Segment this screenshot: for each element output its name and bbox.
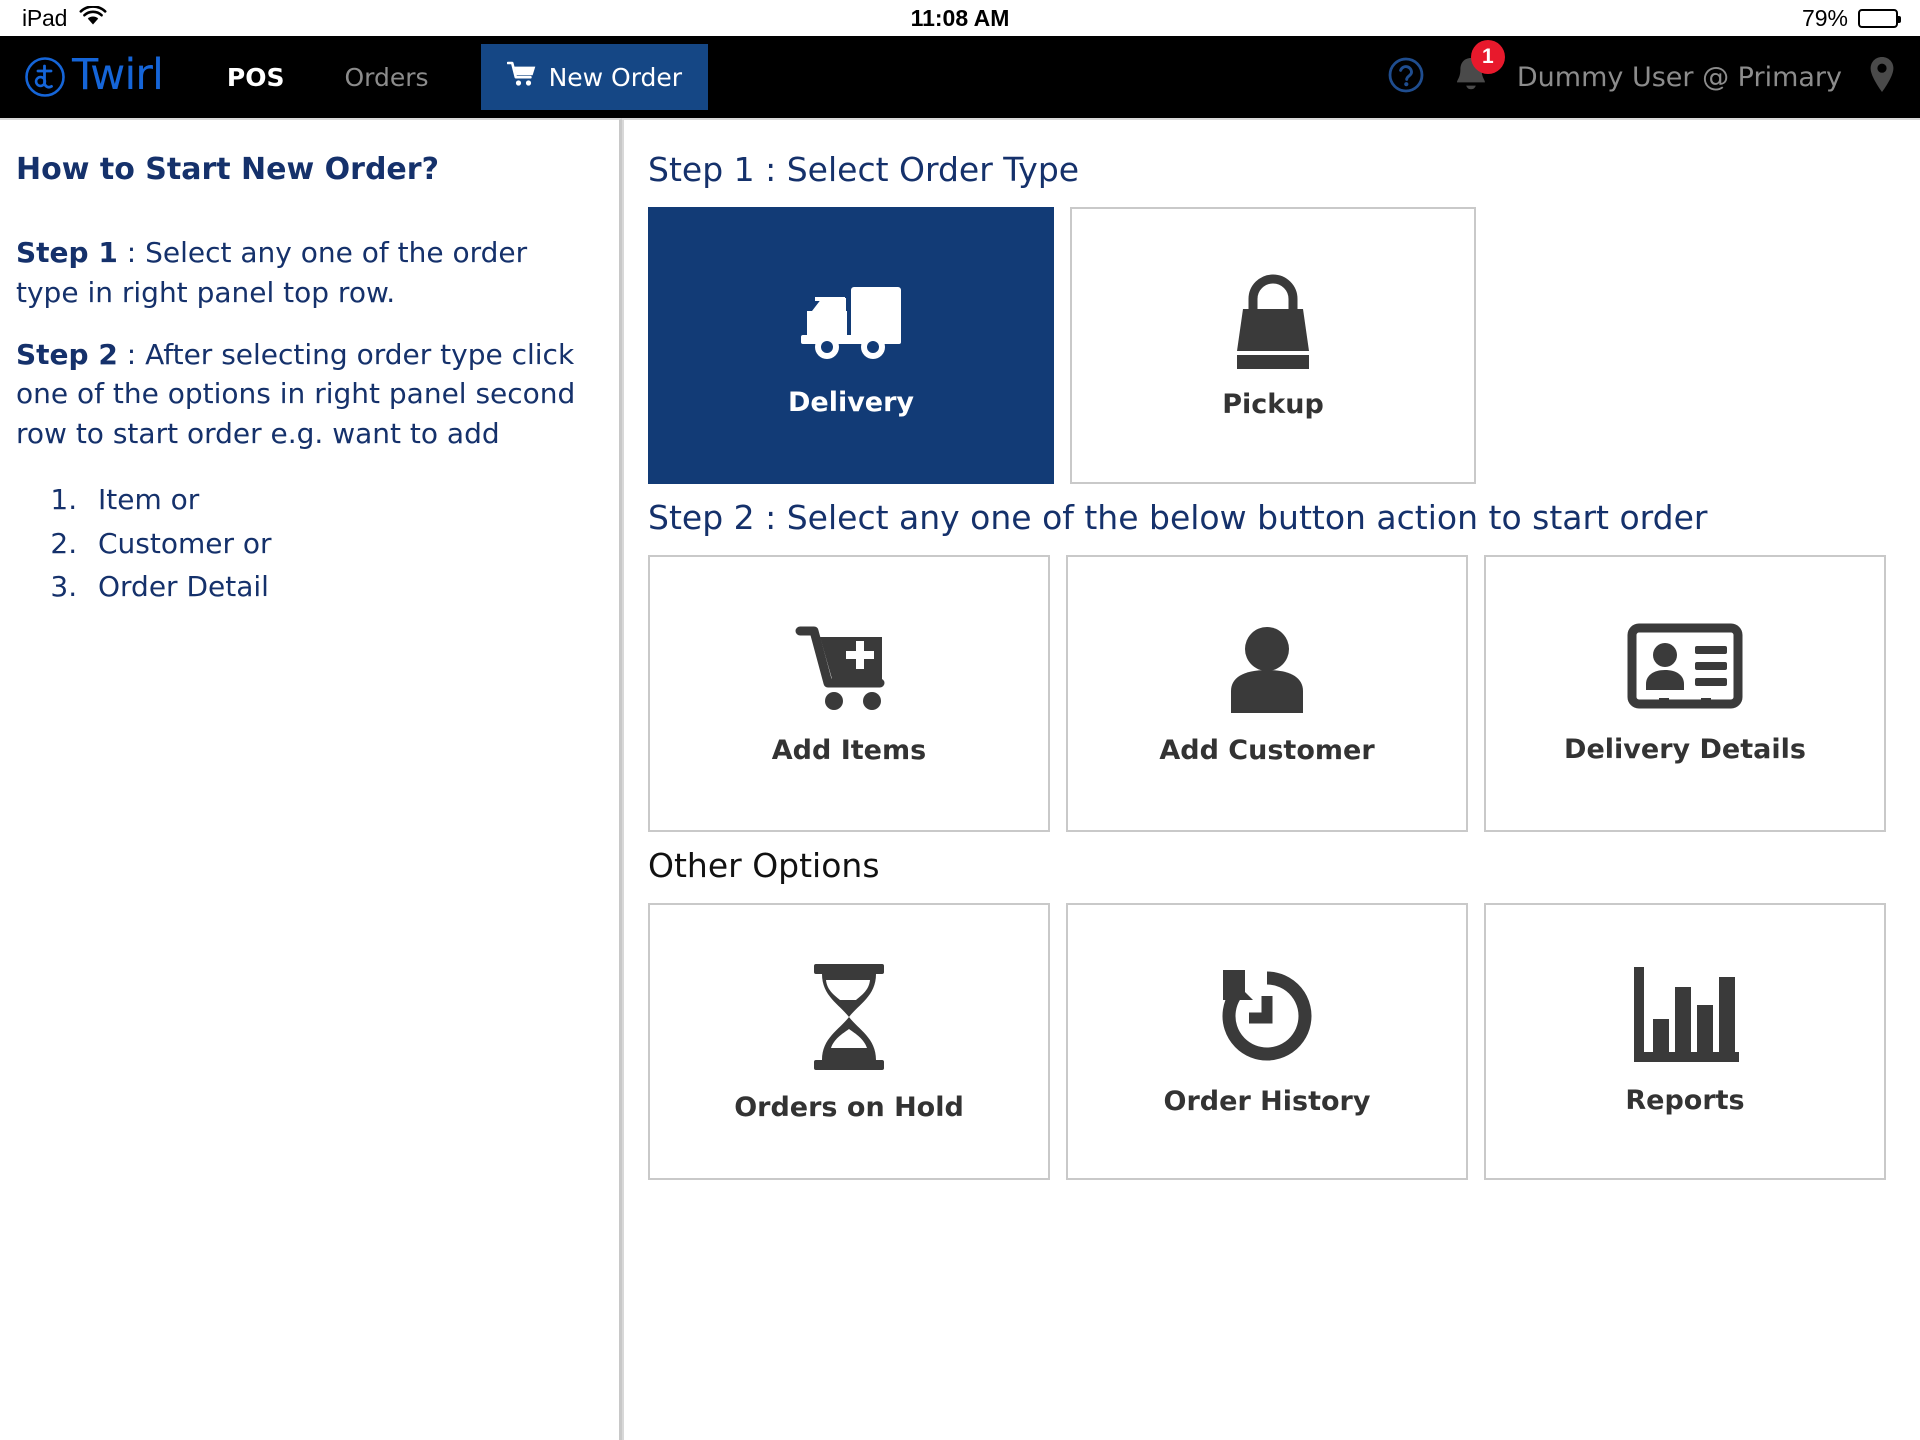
order-type-card-pickup[interactable]: Pickup — [1070, 207, 1476, 484]
sidebar-options-list: Item or Customer or Order Detail — [16, 480, 589, 607]
question-circle-icon — [1387, 56, 1425, 98]
notifications-button[interactable]: 1 — [1451, 54, 1491, 100]
other-card-reports[interactable]: Reports — [1484, 903, 1886, 1180]
other-card-orders-on-hold[interactable]: Orders on Hold — [648, 903, 1050, 1180]
nav-link-orders[interactable]: Orders — [314, 36, 458, 118]
order-type-card-delivery[interactable]: Delivery — [648, 207, 1054, 484]
other-label-reports: Reports — [1625, 1085, 1744, 1116]
delivery-truck-icon — [795, 273, 907, 369]
other-label-orders-on-hold: Orders on Hold — [734, 1092, 964, 1123]
order-type-row: Delivery Pickup — [648, 207, 1886, 484]
help-button[interactable] — [1387, 56, 1425, 98]
action-label-add-items: Add Items — [772, 735, 926, 766]
nav-links: POS Orders New Order — [197, 36, 708, 118]
bar-chart-icon — [1631, 967, 1739, 1067]
other-card-order-history[interactable]: Order History — [1066, 903, 1468, 1180]
action-card-delivery-details[interactable]: Delivery Details — [1484, 555, 1886, 832]
action-row: Add Items Add Customer — [648, 555, 1886, 832]
cart-plus-icon — [794, 621, 904, 717]
twirl-logo-icon — [24, 56, 66, 98]
shopping-cart-icon — [507, 61, 537, 93]
status-bar-clock: 11:08 AM — [0, 5, 1920, 32]
nav-tab-new-order[interactable]: New Order — [481, 44, 709, 110]
nav-right-actions: 1 Dummy User @ Primary — [1387, 36, 1920, 118]
main-panel: Step 1 : Select Order Type — [622, 118, 1920, 1440]
battery-icon — [1858, 9, 1898, 28]
status-bar-left: iPad — [22, 5, 107, 32]
shopping-bag-icon — [1221, 271, 1325, 371]
user-account-label[interactable]: Dummy User @ Primary — [1517, 62, 1842, 93]
device-name: iPad — [22, 5, 67, 32]
list-item: Item or — [86, 480, 589, 520]
sidebar-title: How to Start New Order? — [16, 152, 589, 187]
other-options-row: Orders on Hold Order History — [648, 903, 1886, 1180]
sidebar-step2-label: Step 2 — [16, 338, 118, 371]
sidebar-step1-paragraph: Step 1 : Select any one of the order typ… — [16, 233, 589, 313]
notification-badge: 1 — [1471, 40, 1505, 74]
list-item: Order Detail — [86, 567, 589, 607]
list-item: Customer or — [86, 524, 589, 564]
history-clock-icon — [1214, 966, 1320, 1068]
action-label-add-customer: Add Customer — [1159, 735, 1374, 766]
location-pin-icon — [1868, 55, 1896, 99]
ios-status-bar: iPad 11:08 AM 79% — [0, 0, 1920, 36]
user-icon — [1219, 621, 1315, 717]
battery-percentage: 79% — [1802, 5, 1848, 32]
id-card-icon — [1627, 622, 1743, 716]
other-options-heading: Other Options — [648, 846, 1886, 885]
step1-heading: Step 1 : Select Order Type — [648, 150, 1886, 189]
order-type-label-delivery: Delivery — [788, 387, 914, 418]
sidebar-step2-paragraph: Step 2 : After selecting order type clic… — [16, 335, 589, 454]
hourglass-icon — [800, 960, 898, 1074]
wifi-icon — [79, 6, 107, 30]
nav-tab-new-order-label: New Order — [549, 63, 683, 92]
status-bar-right: 79% — [1802, 5, 1898, 32]
action-label-delivery-details: Delivery Details — [1564, 734, 1806, 765]
other-label-order-history: Order History — [1164, 1086, 1371, 1117]
top-navigation-bar: Twirl POS Orders New Order — [0, 36, 1920, 118]
page-content: How to Start New Order? Step 1 : Select … — [0, 118, 1920, 1440]
brand-logo[interactable]: Twirl — [0, 36, 163, 118]
location-button[interactable] — [1868, 55, 1896, 99]
action-card-add-items[interactable]: Add Items — [648, 555, 1050, 832]
nav-link-pos[interactable]: POS — [197, 36, 315, 118]
brand-name: Twirl — [72, 54, 163, 97]
order-type-label-pickup: Pickup — [1222, 389, 1324, 420]
help-sidebar: How to Start New Order? Step 1 : Select … — [0, 118, 622, 1440]
sidebar-step1-label: Step 1 — [16, 236, 118, 269]
step2-heading: Step 2 : Select any one of the below but… — [648, 498, 1886, 537]
action-card-add-customer[interactable]: Add Customer — [1066, 555, 1468, 832]
